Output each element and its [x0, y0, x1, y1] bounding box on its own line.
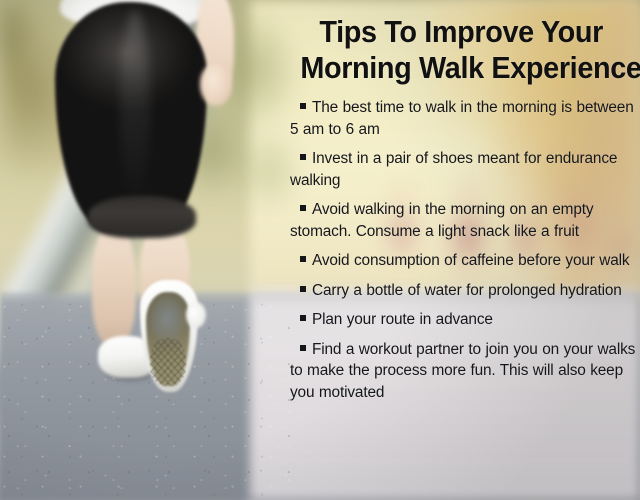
list-item: Plan your route in advance	[290, 309, 636, 331]
page-title: Tips To Improve Your Morning Walk Experi…	[300, 0, 627, 86]
lifted-sneaker	[140, 280, 198, 392]
square-bullet-icon	[300, 103, 306, 109]
tip-text: Plan your route in advance	[312, 311, 493, 328]
blurred-foliage	[0, 0, 300, 500]
square-bullet-icon	[300, 256, 306, 262]
tip-text: Find a workout partner to join you on yo…	[290, 341, 635, 401]
tip-text: Invest in a pair of shoes meant for endu…	[290, 150, 617, 189]
page-title-line-1: Tips To Improve Your	[300, 14, 622, 50]
tip-text: Avoid walking in the morning on an empty…	[290, 201, 593, 240]
planted-sneaker	[98, 336, 156, 378]
sneaker-tread-pattern	[150, 338, 186, 386]
shoe-contact-shadow	[104, 368, 156, 382]
square-bullet-icon	[300, 154, 306, 160]
infographic-poster: Tips To Improve Your Morning Walk Experi…	[0, 0, 640, 500]
leggings-hem	[88, 196, 196, 238]
square-bullet-icon	[300, 345, 306, 351]
right-leg	[140, 222, 190, 330]
tip-text: Carry a bottle of water for prolonged hy…	[312, 282, 622, 299]
sneaker-outsole	[146, 292, 190, 386]
square-bullet-icon	[300, 205, 306, 211]
list-item: The best time to walk in the morning is …	[290, 97, 636, 140]
square-bullet-icon	[300, 286, 306, 292]
asphalt-speckle-texture	[0, 300, 300, 500]
leggings-sheen	[120, 10, 150, 210]
blurred-railing-secondary	[0, 0, 210, 500]
sneaker-heel-tab	[186, 302, 206, 328]
right-hand	[200, 64, 232, 106]
list-item: Avoid consumption of caffeine before you…	[290, 250, 636, 272]
list-item: Avoid walking in the morning on an empty…	[290, 199, 636, 242]
square-bullet-icon	[300, 315, 306, 321]
sneaker-arch	[150, 296, 184, 342]
list-item: Carry a bottle of water for prolonged hy…	[290, 280, 636, 302]
tip-text: Avoid consumption of caffeine before you…	[312, 252, 629, 269]
left-leg	[92, 226, 136, 346]
white-top	[60, 0, 210, 28]
tips-list: The best time to walk in the morning is …	[288, 86, 640, 403]
list-item: Find a workout partner to join you on yo…	[290, 339, 636, 404]
text-panel: Tips To Improve Your Morning Walk Experi…	[288, 0, 640, 500]
page-title-line-2: Morning Walk Experience	[300, 50, 622, 86]
tip-text: The best time to walk in the morning is …	[290, 99, 634, 138]
black-capri-leggings	[55, 2, 207, 232]
list-item: Invest in a pair of shoes meant for endu…	[290, 148, 636, 191]
blurred-railing	[0, 0, 230, 500]
right-arm	[196, 0, 234, 100]
